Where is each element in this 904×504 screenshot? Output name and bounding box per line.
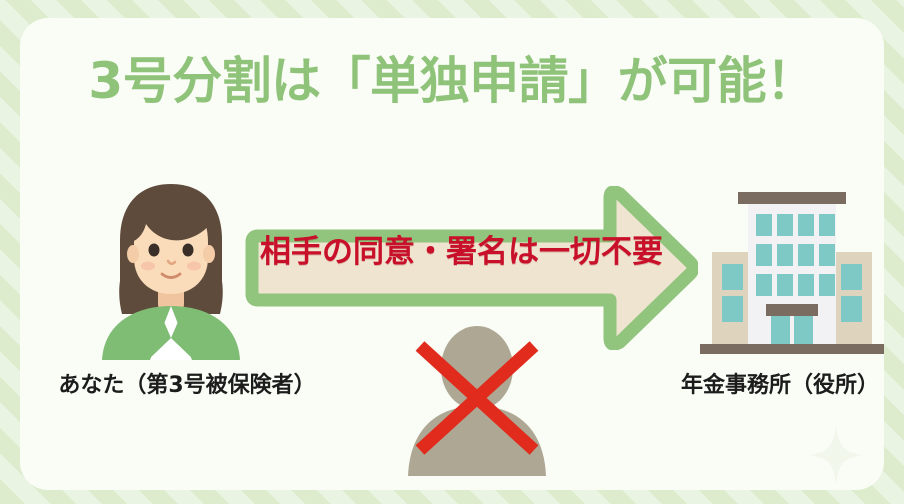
blocked-person-icon [398, 324, 556, 476]
woman-avatar-icon [82, 178, 260, 360]
page-title: 3号分割は「単独申請」が可能！ [20, 54, 884, 109]
sparkle-icon [810, 426, 862, 484]
infographic-canvas: 3号分割は「単独申請」が可能！ [0, 0, 904, 504]
content-card: 3号分割は「単独申請」が可能！ [20, 18, 884, 490]
government-office-building-icon [696, 184, 884, 360]
left-figure-label: あなた（第3号被保険者） [30, 373, 344, 399]
right-figure-label: 年金事務所（役所） [644, 373, 884, 399]
arrow-message: 相手の同意・署名は一切不要 [260, 234, 632, 271]
